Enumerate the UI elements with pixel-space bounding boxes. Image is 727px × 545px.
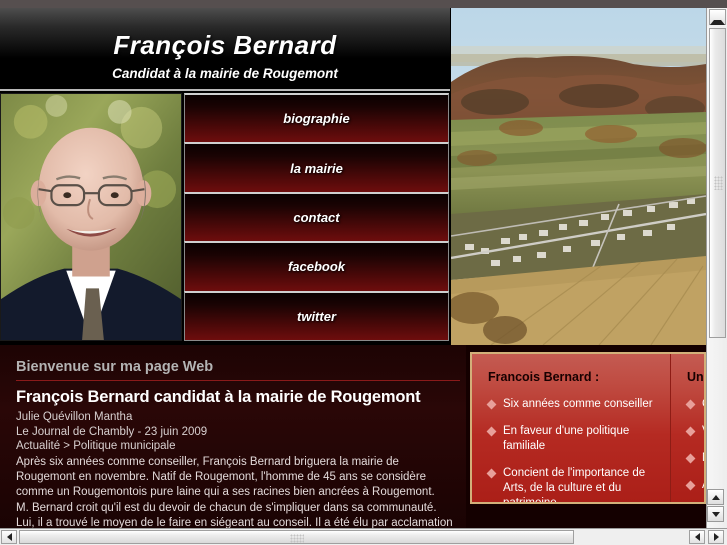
nav-item-label: biographie: [283, 111, 349, 126]
info-item-text: Concient de l'importance de Arts, de la …: [503, 466, 660, 504]
info-column-1-heading: Francois Bernard :: [488, 370, 660, 384]
diamond-bullet-icon: [686, 400, 696, 410]
diamond-bullet-icon: [686, 427, 696, 437]
browser-viewport: François Bernard Candidat à la mairie de…: [0, 8, 706, 529]
info-list-item: Six années comme conseiller: [488, 397, 660, 412]
scrollbar-grip-icon: [290, 534, 304, 543]
horizontal-scrollbar[interactable]: [0, 528, 727, 545]
scroll-left-arrow-icon: [695, 533, 700, 541]
nav-item-label: contact: [293, 210, 339, 225]
nav-item-label: la mairie: [290, 161, 343, 176]
scroll-up-arrow-icon: [712, 495, 720, 500]
horizontal-scrollbar-thumb[interactable]: [19, 530, 574, 544]
scroll-up-button[interactable]: [709, 9, 726, 25]
heading-divider: [16, 380, 460, 381]
info-list-item: Concient de l'importance de Arts, de la …: [488, 466, 660, 504]
info-item-text: En faveur d'une politique familiale: [503, 424, 660, 454]
nav-item-biographie[interactable]: biographie: [184, 93, 449, 142]
page-title: François Bernard: [0, 30, 450, 61]
scrollbar-grip-icon: [714, 176, 723, 190]
diamond-bullet-icon: [487, 469, 497, 479]
site-header: François Bernard Candidat à la mairie de…: [0, 8, 450, 91]
nav-item-label: facebook: [288, 259, 345, 274]
scroll-right-button[interactable]: [708, 530, 724, 544]
nav-item-contact[interactable]: contact: [184, 192, 449, 241]
lower-content-band: Bienvenue sur ma page Web François Berna…: [0, 345, 706, 529]
article-headline: François Bernard candidat à la mairie de…: [16, 388, 458, 407]
scrollbar-corner: [706, 0, 727, 8]
panel-vertical-scrollbar[interactable]: [707, 489, 724, 523]
info-item-text: Six années comme conseiller: [503, 397, 653, 412]
info-list-item: A: [687, 478, 706, 493]
article-column: Bienvenue sur ma page Web François Berna…: [0, 345, 466, 529]
scroll-down-arrow-icon: [712, 512, 720, 517]
panel-scroll-down-button[interactable]: [707, 506, 724, 522]
info-list-item: V: [687, 424, 706, 439]
scroll-left-button-secondary[interactable]: [689, 530, 705, 544]
info-column-2-heading: Un: [687, 370, 706, 384]
scroll-up-arrow-icon: [710, 9, 725, 25]
vertical-scrollbar[interactable]: [706, 8, 727, 529]
page-subtitle: Candidat à la mairie de Rougemont: [0, 66, 450, 81]
nav-item-twitter[interactable]: twitter: [184, 291, 449, 341]
info-list-item: En faveur d'une politique familiale: [488, 424, 660, 454]
candidate-portrait-photo: [0, 93, 182, 341]
nav-item-label: twitter: [297, 309, 336, 324]
info-list-item: C: [687, 397, 706, 412]
scroll-left-arrow-icon: [7, 533, 12, 541]
article-paragraph-1: Après six années comme conseiller, Franç…: [16, 455, 458, 500]
diamond-bullet-icon: [487, 427, 497, 437]
scroll-right-arrow-icon: [714, 533, 719, 541]
aerial-landscape-photo: [451, 8, 706, 345]
info-list-item: N: [687, 451, 706, 466]
diamond-bullet-icon: [487, 400, 497, 410]
info-column-2: Un C V N A: [670, 354, 706, 502]
article-category: Actualité > Politique municipale: [16, 439, 458, 454]
info-column-1: Francois Bernard : Six années comme cons…: [472, 354, 670, 502]
info-panel: Francois Bernard : Six années comme cons…: [470, 352, 706, 504]
desktop-background: François Bernard Candidat à la mairie de…: [0, 0, 727, 545]
diamond-bullet-icon: [686, 454, 696, 464]
nav-item-facebook[interactable]: facebook: [184, 241, 449, 290]
welcome-heading: Bienvenue sur ma page Web: [16, 359, 458, 380]
window-top-chrome: [0, 0, 727, 8]
article-author: Julie Quévillon Mantha: [16, 410, 458, 425]
panel-scroll-up-button[interactable]: [707, 489, 724, 505]
article-paragraph-2: M. Bernard croit qu'il est du devoir de …: [16, 501, 458, 530]
article-source: Le Journal de Chambly - 23 juin 2009: [16, 425, 458, 440]
main-navigation: biographie la mairie contact facebook tw…: [184, 93, 449, 341]
vertical-scrollbar-thumb[interactable]: [709, 28, 726, 338]
diamond-bullet-icon: [686, 481, 696, 491]
scroll-left-button[interactable]: [1, 530, 17, 544]
nav-item-la-mairie[interactable]: la mairie: [184, 142, 449, 191]
